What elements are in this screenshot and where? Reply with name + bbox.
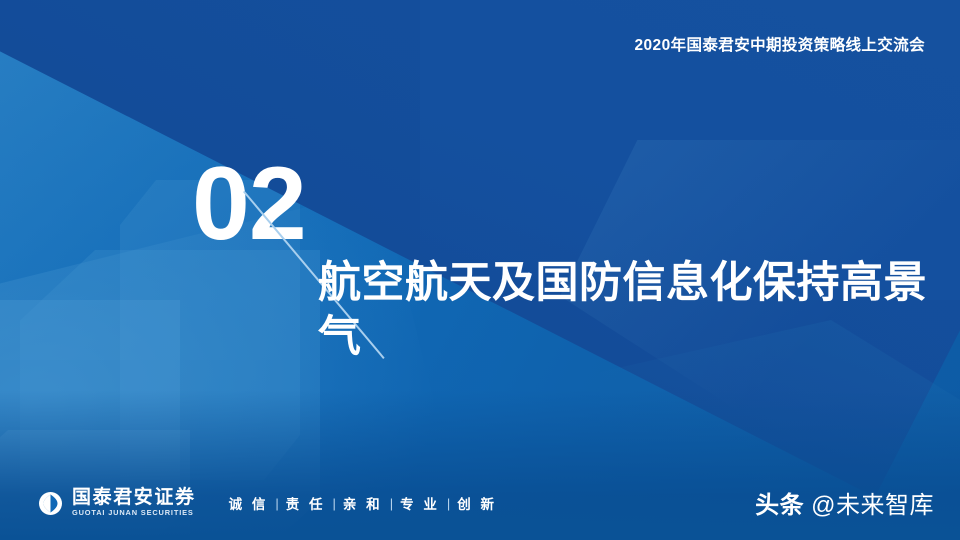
slogan-word: 专 业 [393, 493, 447, 513]
slogan-word: 责 任 [279, 493, 333, 513]
watermark: 头条 @未来智库 [755, 485, 934, 520]
watermark-handle: @未来智库 [811, 485, 934, 520]
section-number: 02 [192, 152, 306, 256]
footer-slogan: 诚 信 | 责 任 | 亲 和 | 专 业 | 创 新 [222, 493, 504, 513]
slogan-word: 创 新 [450, 493, 504, 513]
section-title: 航空航天及国防信息化保持高景气 [318, 256, 928, 364]
header-title: 2020年国泰君安中期投资策略线上交流会 [635, 33, 925, 55]
slogan-word: 亲 和 [336, 493, 390, 513]
guotai-junan-circle-logo-icon [38, 491, 63, 516]
slide-canvas: 2020年国泰君安中期投资策略线上交流会 02 航空航天及国防信息化保持高景气 … [0, 0, 960, 540]
footer-branding: 国泰君安证券 GUOTAI JUNAN SECURITIES 诚 信 | 责 任… [38, 488, 504, 518]
watermark-brand: 头条 [755, 485, 804, 520]
logo-wordmark: 国泰君安证券 GUOTAI JUNAN SECURITIES [72, 488, 196, 518]
logo-name-cn: 国泰君安证券 [72, 488, 196, 508]
slogan-word: 诚 信 [222, 493, 276, 513]
logo-name-en: GUOTAI JUNAN SECURITIES [72, 509, 196, 518]
